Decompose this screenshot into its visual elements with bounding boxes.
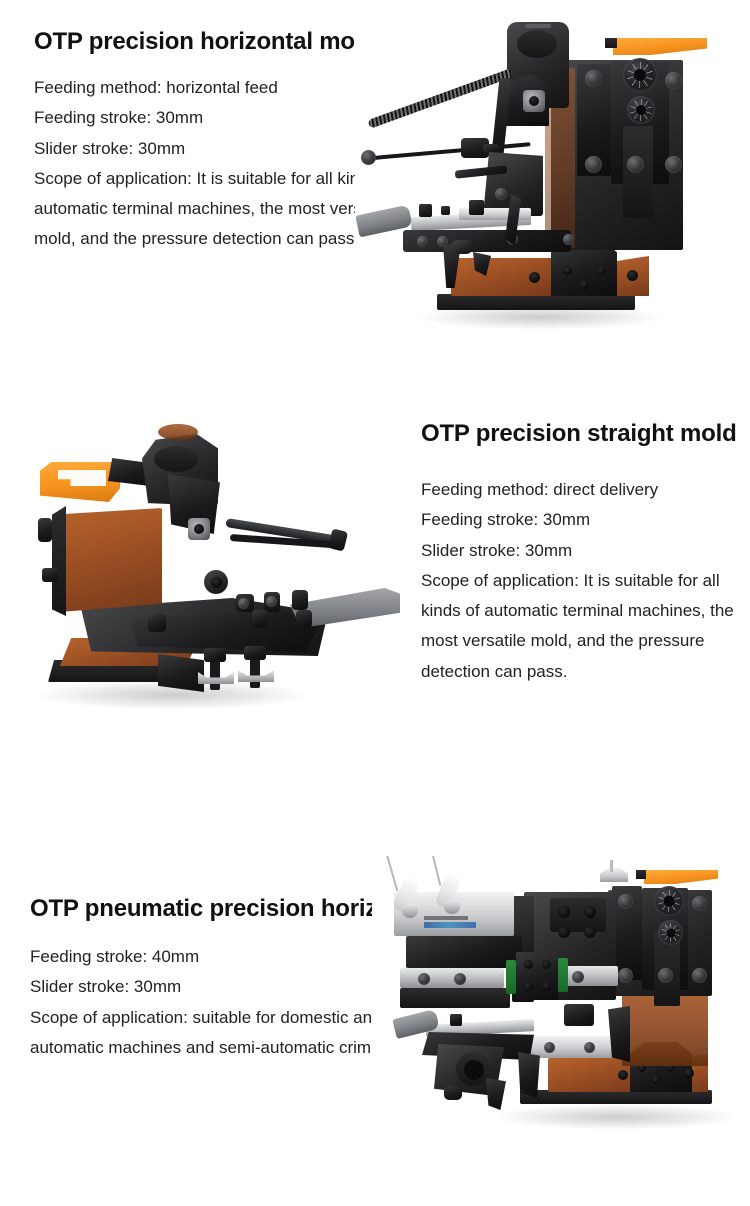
spec-line: Slider stroke: 30mm	[421, 536, 741, 566]
product-photo-straight-mold	[12, 402, 402, 720]
section-2-heading: OTP precision straight mold	[421, 418, 741, 449]
spec-line: Feeding method: direct delivery	[421, 475, 741, 505]
product-photo-pneumatic-mold	[372, 856, 744, 1146]
product-spec-sheet: OTP precision horizontal mold Feeding me…	[0, 0, 750, 1206]
section-2-specs: Feeding method: direct delivery Feeding …	[421, 475, 741, 687]
spec-line: Feeding stroke: 30mm	[421, 505, 741, 535]
spec-line: Scope of application: It is suitable for…	[421, 566, 741, 687]
product-photo-horizontal-mold	[355, 8, 745, 348]
section-2-text: OTP precision straight mold Feeding meth…	[421, 418, 741, 687]
